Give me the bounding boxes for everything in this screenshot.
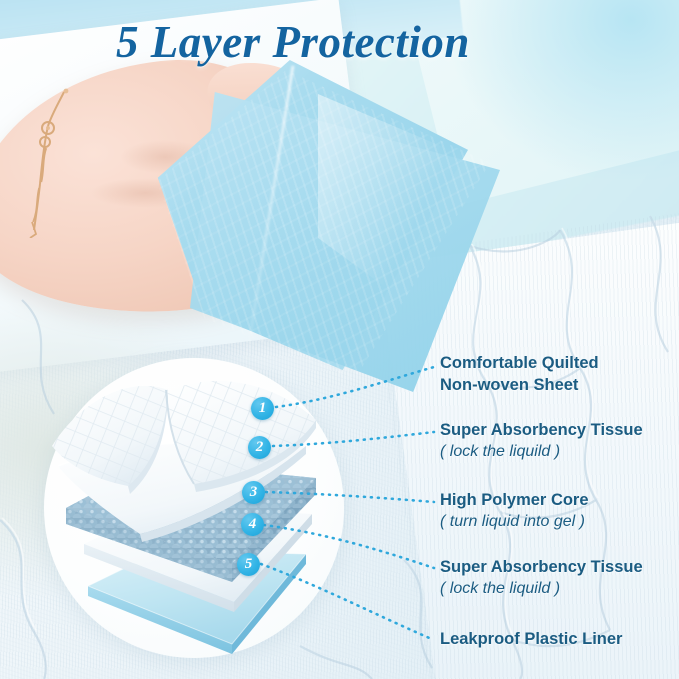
- layer-label-5: Leakproof Plastic Liner: [440, 628, 622, 650]
- infographic-canvas: 1 2 3 4 5 5 Layer Protection Comfortable…: [0, 0, 679, 679]
- layer-badge-3[interactable]: 3: [242, 481, 265, 504]
- bracelet-chain-icon: [18, 88, 90, 238]
- layer-label-5-line1: Leakproof Plastic Liner: [440, 628, 622, 650]
- layer-badge-4[interactable]: 4: [241, 513, 264, 536]
- layer-label-4-note: ( lock the liquild ): [440, 578, 643, 600]
- layer-label-4: Super Absorbency Tissue ( lock the liqui…: [440, 556, 643, 600]
- layer-label-1: Comfortable Quilted Non-woven Sheet: [440, 352, 599, 396]
- layer-label-2: Super Absorbency Tissue ( lock the liqui…: [440, 419, 643, 463]
- layer-badge-5[interactable]: 5: [237, 553, 260, 576]
- layer-badge-1[interactable]: 1: [251, 397, 274, 420]
- layer-label-1-line2: Non-woven Sheet: [440, 374, 599, 396]
- layer-label-4-line1: Super Absorbency Tissue: [440, 556, 643, 578]
- layer-label-3-line1: High Polymer Core: [440, 489, 589, 511]
- layer-label-3: High Polymer Core ( turn liquid into gel…: [440, 489, 589, 533]
- layer-label-2-note: ( lock the liquild ): [440, 441, 643, 463]
- layer-label-1-line1: Comfortable Quilted: [440, 352, 599, 374]
- layer-label-2-line1: Super Absorbency Tissue: [440, 419, 643, 441]
- layer-stack-illustration: [44, 358, 344, 658]
- page-title: 5 Layer Protection: [116, 16, 470, 68]
- layer-badge-2[interactable]: 2: [248, 436, 271, 459]
- layer-label-3-note: ( turn liquid into gel ): [440, 511, 589, 533]
